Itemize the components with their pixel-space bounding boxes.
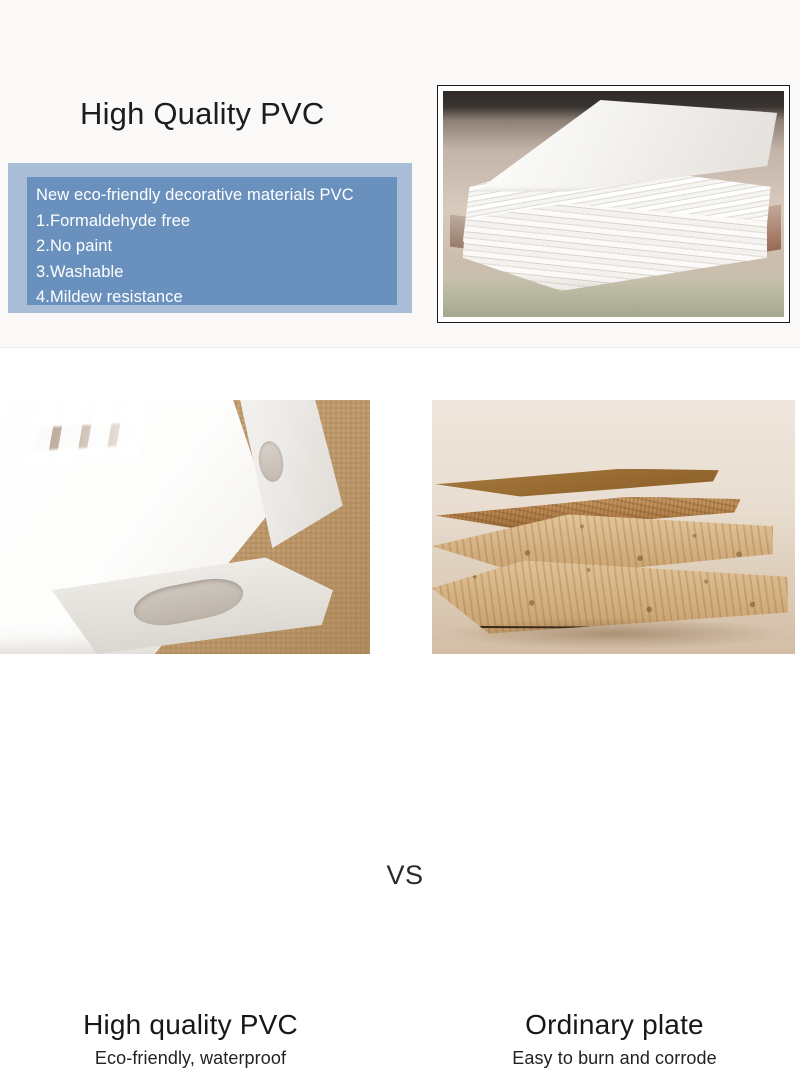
feature-item-4: 4.Mildew resistance [36, 285, 401, 311]
vs-label: VS [383, 860, 427, 891]
top-section: High Quality PVC New eco-friendly decora… [0, 0, 800, 348]
board-stack-shadow [447, 618, 781, 648]
feature-item-intro: New eco-friendly decorative materials PV… [36, 183, 401, 209]
pvc-board-photo [0, 400, 370, 654]
feature-item-3: 3.Washable [36, 260, 401, 286]
stack-shadow [443, 276, 784, 317]
particle-board-photo [432, 400, 795, 654]
pvc-sheet-stack [450, 100, 777, 299]
caption-pvc: High quality PVC Eco-friendly, waterproo… [18, 1008, 363, 1071]
pvc-sheets-photo-frame [437, 85, 790, 323]
pvc-sheet-top-face [450, 100, 777, 191]
feature-item-2: 2.No paint [36, 234, 401, 260]
pvc-sheets-photo [443, 91, 784, 317]
caption-pvc-subtitle: Eco-friendly, waterproof [18, 1045, 363, 1071]
feature-item-1: 1.Formaldehyde free [36, 209, 401, 235]
caption-ordinary-subtitle: Easy to burn and corrode [432, 1045, 797, 1071]
pvc-sheets-scene [443, 91, 784, 317]
caption-ordinary-title: Ordinary plate [432, 1008, 797, 1042]
feature-list: New eco-friendly decorative materials PV… [36, 183, 401, 311]
comparison-section: VS High quality PVC Eco-friendly, waterp… [0, 348, 800, 800]
caption-pvc-title: High quality PVC [18, 1008, 363, 1042]
page-title: High Quality PVC [80, 96, 324, 132]
infographic-page: High Quality PVC New eco-friendly decora… [0, 0, 800, 800]
caption-ordinary: Ordinary plate Easy to burn and corrode [432, 1008, 797, 1071]
pvc-board-cutout-letters [27, 400, 151, 465]
